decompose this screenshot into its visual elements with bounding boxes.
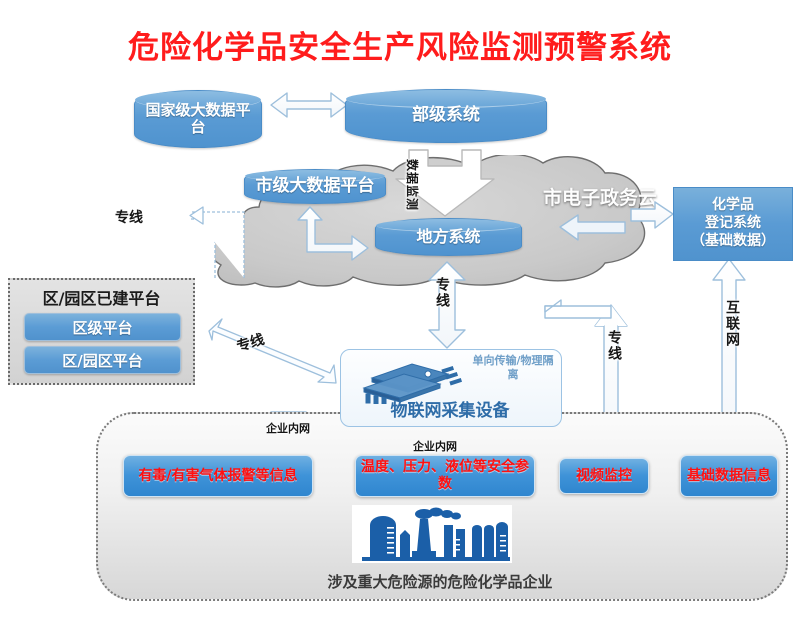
district-platform-item[interactable]: 区级平台 — [24, 313, 181, 341]
dedicated-line-label-middle: 专线 — [432, 277, 452, 309]
national-bigdata-platform-node[interactable]: 国家级大数据平台 — [134, 90, 262, 148]
national-bigdata-platform-label: 国家级大数据平台 — [135, 102, 261, 136]
city-bigdata-platform-label: 市级大数据平台 — [250, 177, 381, 196]
park-platform-label: 区/园区平台 — [62, 350, 142, 371]
district-platform-label: 区级平台 — [72, 317, 132, 338]
enterprise-intranet-label-center: 企业内网 — [413, 438, 457, 454]
gas-alarm-label: 有毒/有害气体报警等信息 — [138, 468, 297, 485]
page-title: 危险化学品安全生产风险监测预警系统 — [0, 22, 800, 67]
chem-reg-line3: （基础数据） — [691, 233, 775, 251]
iot-transmission-note: 单向传输/物理隔离 — [470, 354, 556, 382]
local-system-node[interactable]: 地方系统 — [375, 218, 522, 256]
chem-reg-line1: 化学品 — [691, 197, 775, 215]
dedicated-line-label-top: 专线 — [115, 207, 143, 227]
dedicated-line-label-right: 专线 — [604, 330, 624, 362]
enterprise-caption: 涉及重大危险源的危险化学品企业 — [96, 571, 784, 592]
district-built-platform-title: 区/园区已建平台 — [10, 285, 193, 309]
safety-parameters-data-box[interactable]: 温度、压力、液位等安全参数 — [355, 455, 535, 497]
enterprise-intranet-label-left: 企业内网 — [266, 420, 310, 436]
diagram-canvas: 危险化学品安全生产风险监测预警系统 市电子政务云 — [0, 0, 800, 627]
gas-alarm-data-box[interactable]: 有毒/有害气体报警等信息 — [123, 455, 313, 497]
basic-data-label: 基础数据信息 — [687, 468, 771, 485]
cloud-label: 市电子政务云 — [520, 183, 680, 210]
city-bigdata-platform-node[interactable]: 市级大数据平台 — [244, 169, 386, 204]
data-monitoring-label: 数据监测 — [404, 159, 421, 211]
district-built-platform-panel: 区/园区已建平台 区级平台 区/园区平台 — [8, 278, 195, 385]
internet-label: 互联网 — [722, 300, 742, 348]
dedicated-line-label-diagonal: 专线 — [234, 329, 267, 356]
video-monitoring-data-box[interactable]: 视频监控 — [559, 458, 649, 494]
ministry-system-label: 部级系统 — [406, 106, 486, 125]
chemical-plant-icon — [352, 505, 512, 563]
ministry-system-node[interactable]: 部级系统 — [345, 89, 547, 143]
safety-parameters-label: 温度、压力、液位等安全参数 — [361, 459, 529, 493]
park-platform-item[interactable]: 区/园区平台 — [24, 346, 181, 374]
video-monitoring-label: 视频监控 — [576, 468, 632, 485]
chem-reg-line2: 登记系统 — [691, 215, 775, 233]
local-system-label: 地方系统 — [410, 228, 486, 246]
chemical-registration-system-node[interactable]: 化学品 登记系统 （基础数据） — [673, 187, 793, 261]
iot-collection-device-label: 物联网采集设备 — [340, 396, 560, 421]
basic-data-box[interactable]: 基础数据信息 — [680, 455, 778, 497]
